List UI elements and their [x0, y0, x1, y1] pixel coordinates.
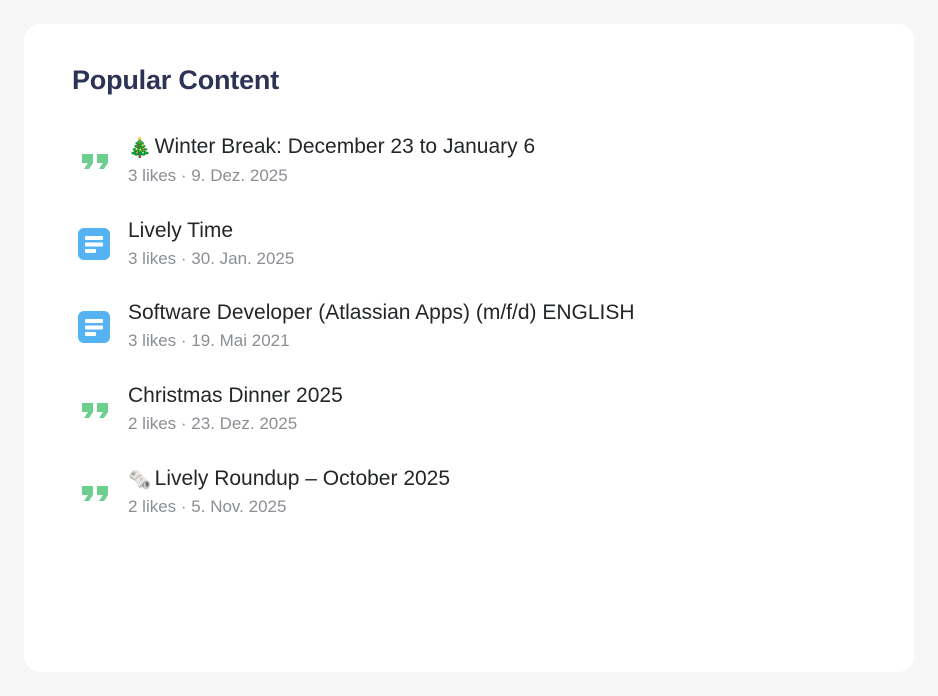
item-icon-slot	[72, 311, 128, 343]
list-item[interactable]: Software Developer (Atlassian Apps) (m/f…	[72, 300, 866, 353]
item-title-label: Lively Roundup – October 2025	[155, 467, 450, 490]
item-meta: 2 likes · 23. Dez. 2025	[128, 413, 343, 436]
item-icon-slot	[72, 393, 128, 427]
item-icon-slot	[72, 144, 128, 178]
blog-quote-icon	[78, 393, 112, 427]
blog-quote-icon	[78, 476, 112, 510]
item-text-block: 🎄Winter Break: December 23 to January 6 …	[128, 134, 535, 187]
item-meta: 3 likes · 30. Jan. 2025	[128, 248, 294, 271]
item-meta: 3 likes · 19. Mai 2021	[128, 330, 635, 353]
christmas-tree-icon: 🎄	[128, 137, 152, 161]
item-title[interactable]: 🎄Winter Break: December 23 to January 6	[128, 134, 535, 161]
blog-quote-icon	[78, 144, 112, 178]
item-text-block: Lively Time 3 likes · 30. Jan. 2025	[128, 218, 294, 271]
page-root: Popular Content 🎄Winter Break: December …	[0, 0, 938, 696]
item-meta: 3 likes · 9. Dez. 2025	[128, 165, 535, 188]
popular-content-list: 🎄Winter Break: December 23 to January 6 …	[72, 134, 866, 519]
item-meta: 2 likes · 5. Nov. 2025	[128, 496, 450, 519]
item-title[interactable]: Christmas Dinner 2025	[128, 383, 343, 410]
list-item[interactable]: Christmas Dinner 2025 2 likes · 23. Dez.…	[72, 383, 866, 436]
list-item[interactable]: Lively Time 3 likes · 30. Jan. 2025	[72, 218, 866, 271]
page-document-icon	[78, 228, 110, 260]
item-title[interactable]: Software Developer (Atlassian Apps) (m/f…	[128, 300, 635, 327]
item-title[interactable]: 🗞️Lively Roundup – October 2025	[128, 466, 450, 493]
rolled-newspaper-icon: 🗞️	[128, 469, 152, 493]
popular-content-card: Popular Content 🎄Winter Break: December …	[24, 24, 914, 672]
item-text-block: 🗞️Lively Roundup – October 2025 2 likes …	[128, 466, 450, 519]
item-icon-slot	[72, 476, 128, 510]
page-document-icon	[78, 311, 110, 343]
item-title[interactable]: Lively Time	[128, 218, 294, 245]
list-item[interactable]: 🎄Winter Break: December 23 to January 6 …	[72, 134, 866, 187]
item-text-block: Software Developer (Atlassian Apps) (m/f…	[128, 300, 635, 353]
list-item[interactable]: 🗞️Lively Roundup – October 2025 2 likes …	[72, 466, 866, 519]
item-title-label: Winter Break: December 23 to January 6	[155, 135, 536, 158]
item-icon-slot	[72, 228, 128, 260]
page-title: Popular Content	[72, 62, 866, 96]
item-text-block: Christmas Dinner 2025 2 likes · 23. Dez.…	[128, 383, 343, 436]
